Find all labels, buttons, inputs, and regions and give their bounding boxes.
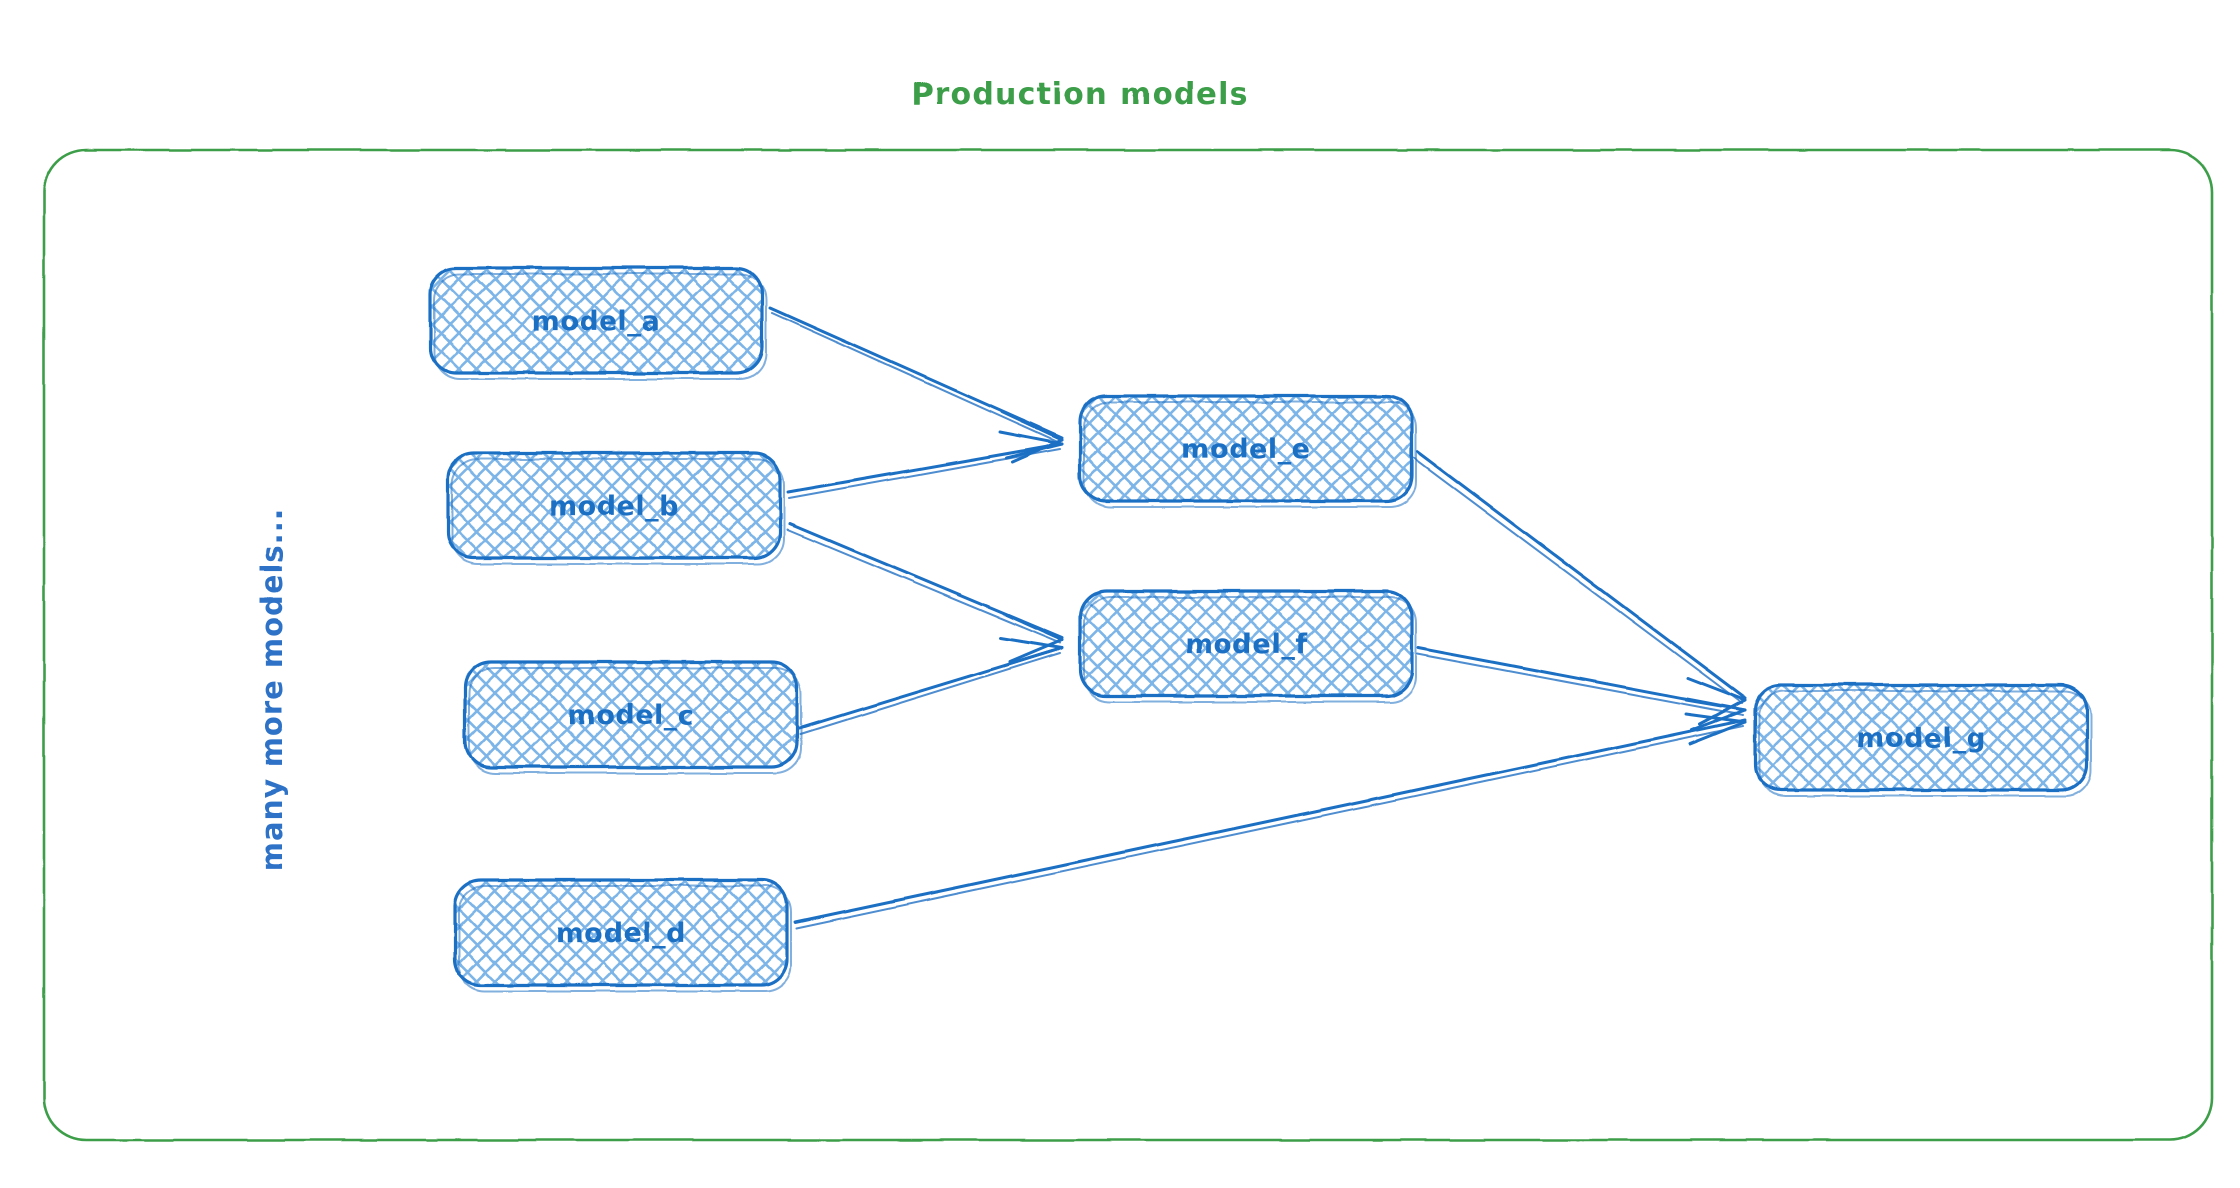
node-model-b-label: model_b [549, 491, 679, 522]
node-model-c[interactable]: model_c [465, 662, 801, 773]
node-model-f[interactable]: model_f [1080, 591, 1416, 702]
edge-model-c-to-model-f [800, 638, 1062, 734]
edge-model-b-to-model-e [788, 432, 1062, 498]
edge-model-a-to-model-e [770, 308, 1062, 462]
node-model-b[interactable]: model_b [448, 453, 784, 564]
node-model-c-label: model_c [568, 700, 695, 731]
node-model-a[interactable]: model_a [430, 268, 766, 379]
node-model-e-label: model_e [1182, 434, 1311, 465]
diagram-canvas: Production models many more models... [0, 0, 2240, 1188]
edge-model-e-to-model-g [1414, 452, 1745, 724]
node-model-f-label: model_f [1185, 629, 1307, 660]
edge-model-d-to-model-g [795, 714, 1745, 928]
node-model-d-label: model_d [556, 918, 686, 949]
node-model-g[interactable]: model_g [1755, 685, 2091, 796]
node-model-e[interactable]: model_e [1080, 396, 1416, 507]
page-title: Production models [911, 77, 1248, 112]
production-models-diagram: Production models many more models... [0, 0, 2240, 1188]
node-model-a-label: model_a [532, 306, 661, 337]
node-model-d[interactable]: model_d [455, 880, 791, 991]
node-model-g-label: model_g [1856, 723, 1986, 754]
side-note-label: many more models... [255, 508, 289, 871]
node-layer: model_a model_b model_c model_d [430, 268, 2091, 991]
side-note-many-more-models: many more models... [255, 508, 289, 871]
